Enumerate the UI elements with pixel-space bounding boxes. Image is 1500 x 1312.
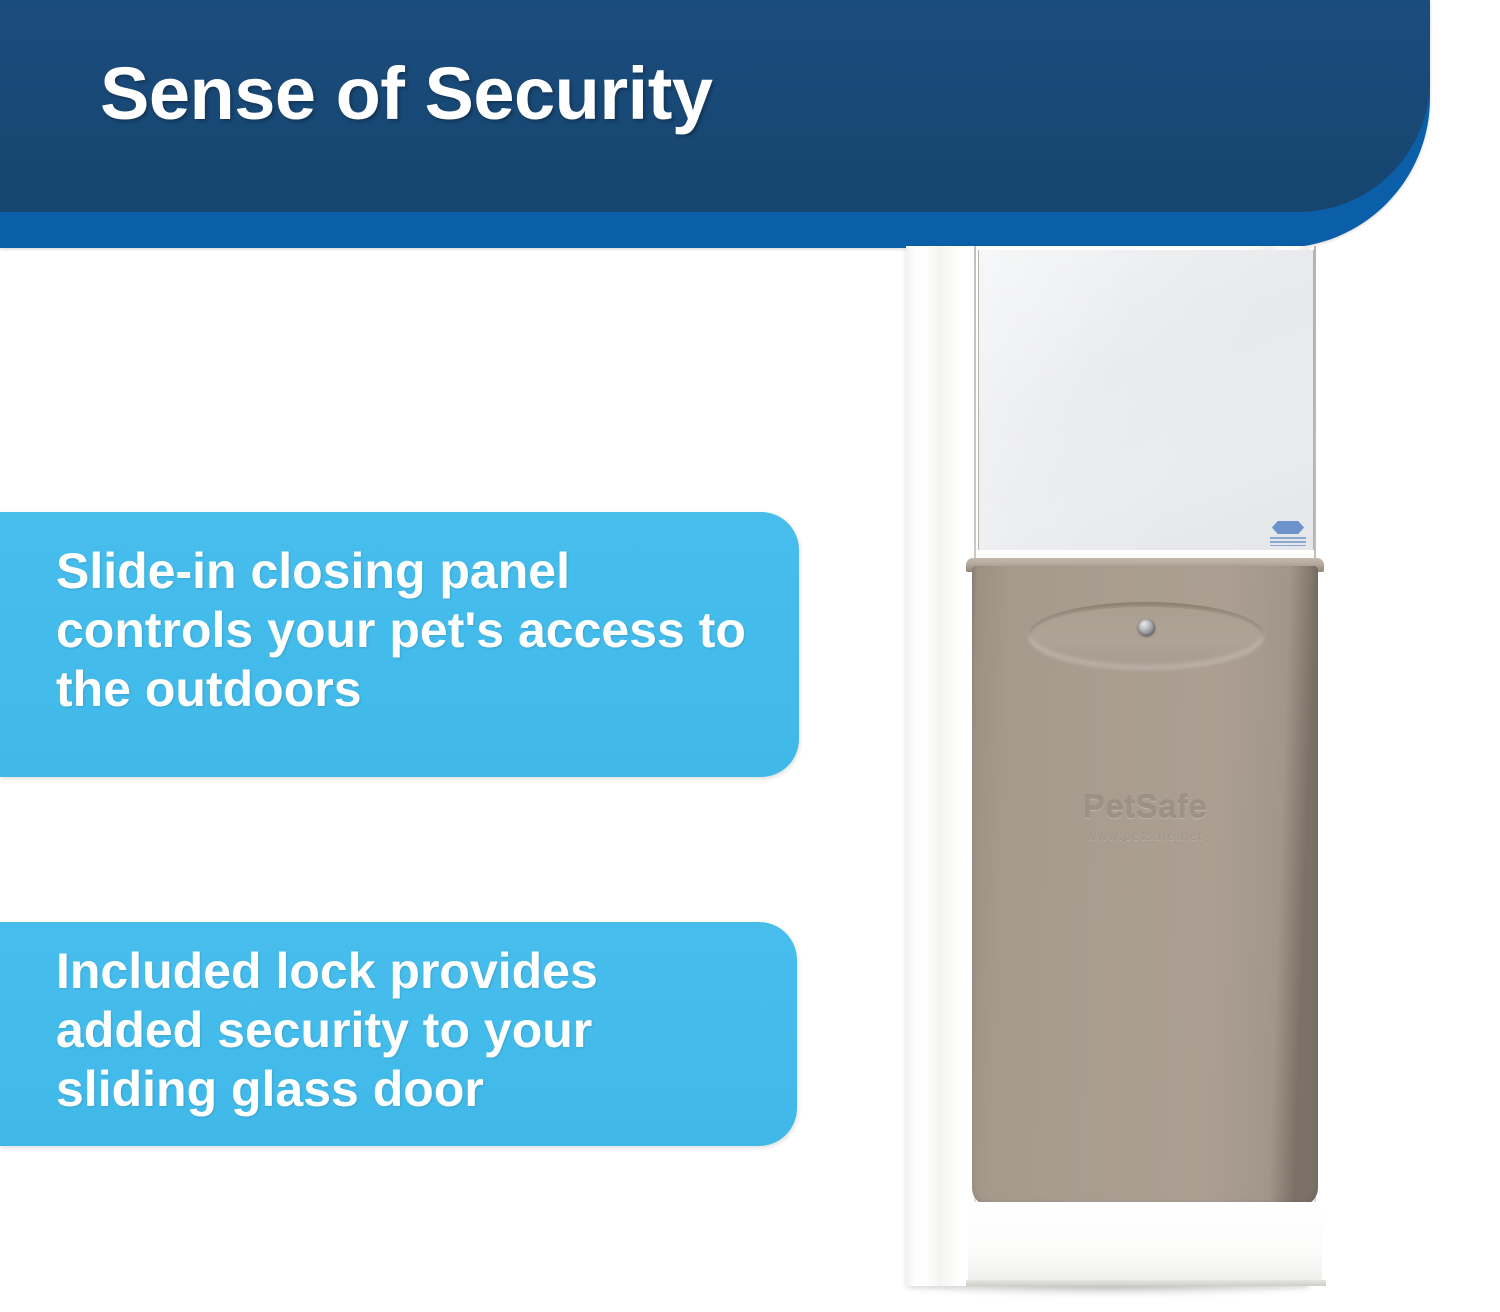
badge-label-lines (1270, 537, 1306, 546)
petsafe-brand-emboss: PetSafe (972, 788, 1318, 826)
callout-slide-in-panel-text: Slide-in closing panel controls your pet… (56, 542, 749, 719)
petsafe-url-emboss: www.petsafe.net (972, 828, 1318, 843)
infographic-canvas: Sense of Security Slide-in closing panel… (0, 0, 1500, 1312)
glass-panel (978, 250, 1314, 553)
callout-included-lock: Included lock provides added security to… (0, 922, 797, 1146)
glass-sticker-badge (1268, 520, 1308, 546)
page-title: Sense of Security (100, 55, 713, 133)
closing-panel: PetSafe www.petsafe.net (972, 566, 1318, 1206)
bottom-sill (968, 1202, 1322, 1286)
door-frame: PetSafe www.petsafe.net (906, 246, 1308, 1286)
header-banner: Sense of Security (0, 0, 1430, 248)
product-image-pet-door: PetSafe www.petsafe.net (880, 246, 1340, 1296)
lock-icon (1138, 619, 1155, 636)
callout-included-lock-text: Included lock provides added security to… (56, 942, 747, 1119)
glass-reflection (979, 250, 1313, 550)
bottom-sill-edge (966, 1280, 1326, 1286)
callout-slide-in-panel: Slide-in closing panel controls your pet… (0, 512, 799, 777)
badge-diamond-icon (1272, 521, 1304, 534)
